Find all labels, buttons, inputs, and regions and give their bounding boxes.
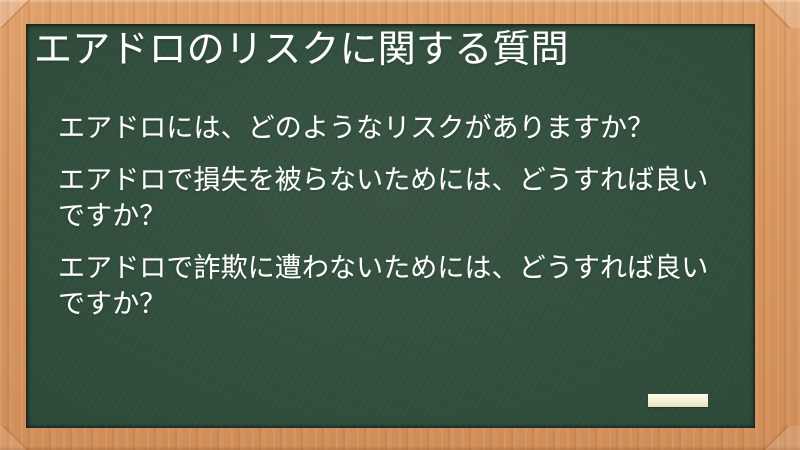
chalkboard-frame: エアドロのリスクに関する質問 エアドロには、どのようなリスクがありますか？ エア… (0, 0, 800, 450)
question-list: エアドロには、どのようなリスクがありますか？ エアドロで損失を被らないためには、… (58, 110, 734, 322)
frame-top-highlight (0, 0, 800, 3)
frame-bottom-shadow (0, 446, 800, 450)
question-item: エアドロで詐欺に遭わないためには、どうすれば良いですか？ (58, 250, 734, 322)
frame-corner-top-right (752, 0, 800, 28)
chalkboard-surface: エアドロのリスクに関する質問 エアドロには、どのようなリスクがありますか？ エア… (26, 24, 755, 428)
question-item: エアドロで損失を被らないためには、どうすれば良いですか？ (58, 162, 734, 234)
chalk-stick-icon (648, 394, 708, 407)
board-title: エアドロのリスクに関する質問 (34, 31, 569, 69)
question-item: エアドロには、どのようなリスクがありますか？ (58, 110, 734, 146)
